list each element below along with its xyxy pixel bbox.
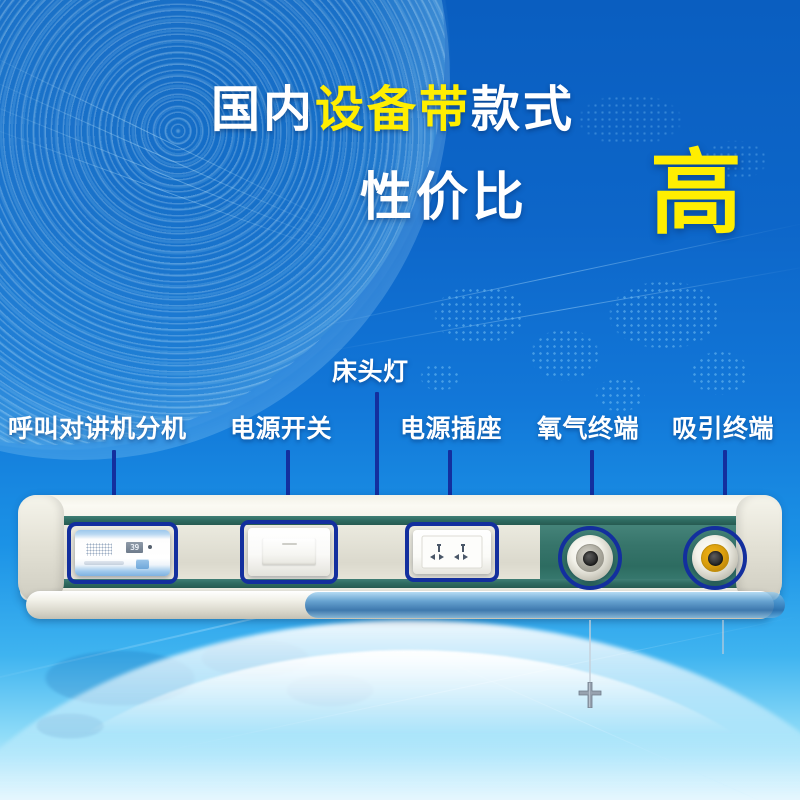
headline-line-2: 性价比	[360, 172, 528, 224]
cord-pendant-icon	[578, 682, 602, 708]
callout-label-bedlamp: 床头灯	[332, 360, 409, 385]
world-map-dots	[390, 245, 800, 435]
headline-part-1: 国内	[211, 83, 315, 137]
callout-label-switch: 电源开关	[230, 417, 332, 442]
product-banner: 国内设备带款式 性价比 高 呼叫对讲机分机 电源开关 床头灯 电源插座 氧气终端…	[0, 0, 800, 800]
highlight-box-switch	[240, 520, 338, 584]
callout-label-intercom: 呼叫对讲机分机	[8, 417, 187, 442]
highlight-circle-oxygen	[558, 526, 622, 590]
headline-emphasis-gao: 高	[650, 148, 742, 240]
callout-label-oxygen: 氧气终端	[537, 417, 639, 442]
headline-line-1: 国内设备带款式	[0, 86, 786, 135]
callout-label-suction: 吸引终端	[672, 417, 774, 442]
headline-part-2: 设备带	[315, 83, 471, 137]
hanging-cord-secondary	[722, 620, 724, 654]
globe-glow-rim	[0, 0, 450, 460]
highlight-circle-suction	[683, 526, 747, 590]
hanging-cord	[589, 620, 591, 688]
headline-part-3: 款式	[471, 83, 575, 137]
unit-endcap-left	[18, 495, 64, 601]
unit-handrail-blue-segment	[305, 592, 785, 618]
callout-label-socket: 电源插座	[400, 417, 502, 442]
highlight-box-socket	[405, 522, 499, 582]
highlight-box-intercom	[67, 522, 178, 584]
